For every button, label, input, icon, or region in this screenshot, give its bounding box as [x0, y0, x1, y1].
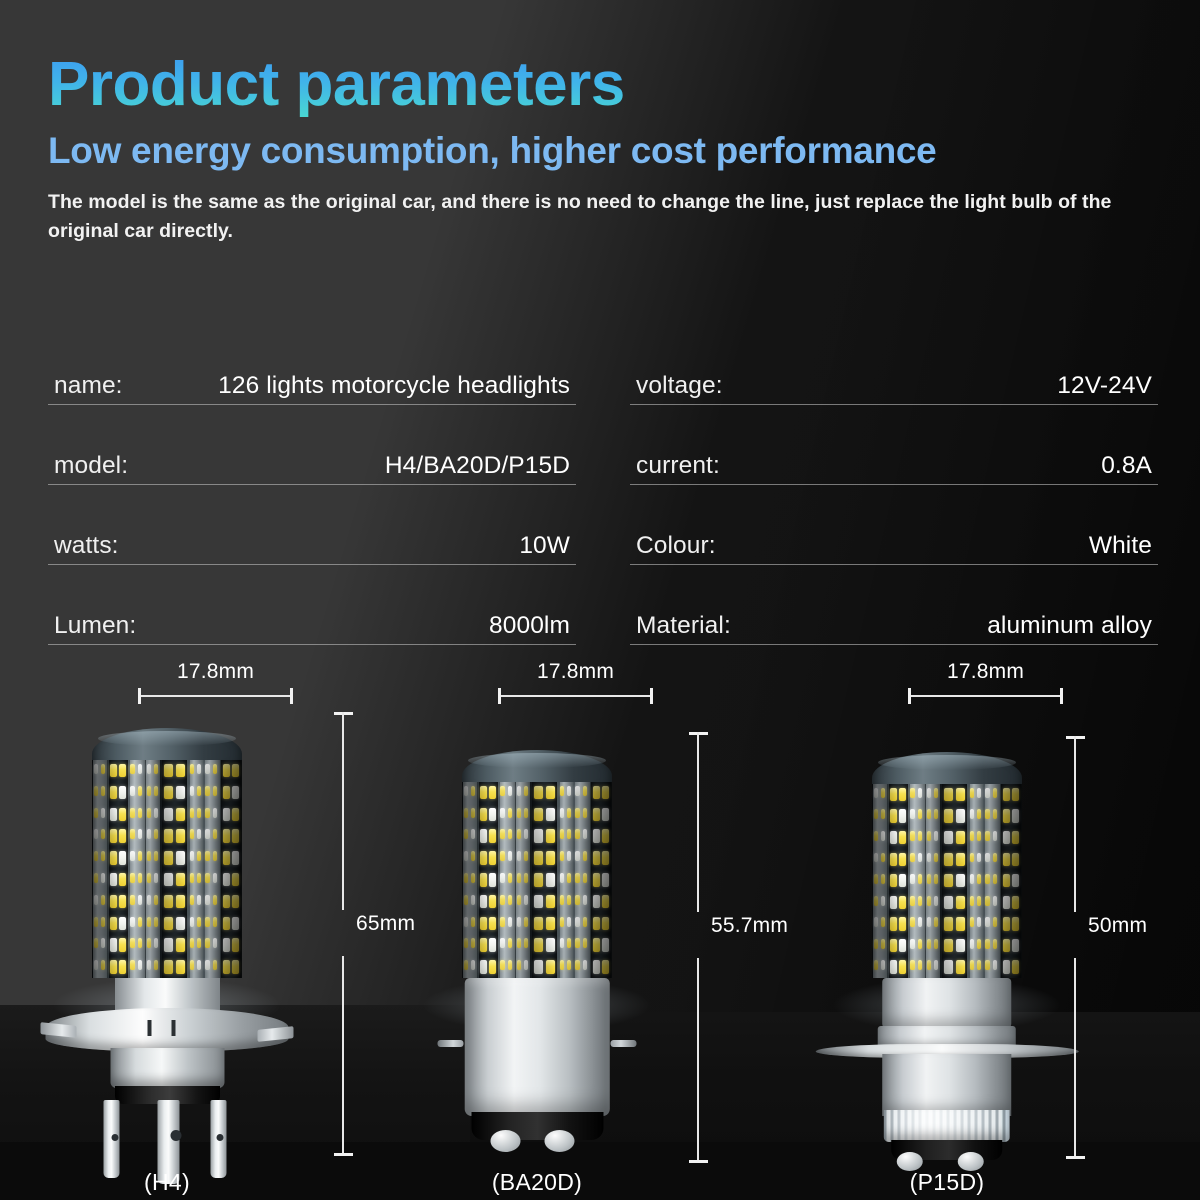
- led-chip: [1012, 809, 1019, 822]
- led-chip: [464, 917, 468, 927]
- led-chip: [223, 786, 230, 800]
- led-panel: [109, 760, 129, 978]
- spec-value: H4/BA20D/P15D: [385, 452, 570, 480]
- led-chip: [593, 917, 600, 931]
- led-panel: [575, 782, 590, 978]
- led-chip: [471, 917, 475, 927]
- led-chip: [197, 873, 201, 883]
- led-chip: [138, 960, 143, 970]
- led-chip: [154, 829, 158, 839]
- led-chip: [119, 873, 126, 887]
- led-chip: [524, 960, 528, 970]
- led-chip: [977, 831, 981, 841]
- bulb-item: 17.8mm50mm(P15D): [790, 660, 1160, 1200]
- led-chip: [970, 831, 974, 841]
- led-chip: [890, 960, 897, 973]
- led-chip: [583, 829, 588, 839]
- spec-row: Material:aluminum alloy: [630, 588, 1158, 668]
- led-chip: [500, 917, 505, 927]
- led-chip: [602, 938, 609, 952]
- page-description: The model is the same as the original ca…: [48, 188, 1123, 246]
- led-chip: [524, 895, 528, 905]
- led-chip: [508, 851, 513, 861]
- led-chip: [956, 809, 966, 822]
- spec-divider: [630, 564, 1158, 565]
- led-chip: [197, 917, 201, 927]
- led-chip: [890, 831, 897, 844]
- led-chip: [119, 808, 126, 822]
- led-chip: [223, 895, 230, 909]
- led-chip: [94, 786, 98, 796]
- led-chip: [197, 808, 201, 818]
- led-chip: [1012, 917, 1019, 930]
- width-dimension-label: 17.8mm: [498, 660, 653, 684]
- led-chip: [970, 960, 974, 970]
- led-panel: [926, 784, 940, 978]
- led-chip: [205, 764, 210, 774]
- spec-row: voltage:12V-24V: [630, 348, 1158, 428]
- led-chip: [944, 853, 954, 866]
- led-chip: [517, 786, 521, 796]
- spec-key: Lumen:: [54, 612, 136, 640]
- led-chip: [517, 873, 521, 883]
- led-chip: [138, 873, 143, 883]
- led-chip: [471, 808, 475, 818]
- led-chip: [190, 873, 194, 883]
- led-chip: [232, 808, 239, 822]
- spec-divider: [630, 484, 1158, 485]
- led-chip: [927, 960, 931, 970]
- led-chip: [119, 917, 126, 931]
- led-chip: [524, 786, 528, 796]
- led-chip: [517, 938, 521, 948]
- led-chip: [567, 808, 571, 818]
- led-chip: [524, 829, 528, 839]
- led-panel: [205, 760, 220, 978]
- led-chip: [110, 873, 117, 887]
- led-chip: [464, 851, 468, 861]
- led-chip: [993, 874, 998, 884]
- base-upper-cylinder: [883, 978, 1012, 1028]
- led-chip: [934, 960, 938, 970]
- led-chip: [560, 808, 564, 818]
- led-chip: [508, 786, 513, 796]
- led-chip: [154, 764, 158, 774]
- base-neck: [115, 978, 220, 1012]
- led-chip: [110, 829, 117, 843]
- led-chip: [147, 851, 151, 861]
- base-cylinder: [464, 978, 610, 1116]
- led-chip: [956, 788, 966, 801]
- led-chip: [119, 786, 126, 800]
- led-chip: [101, 895, 105, 905]
- led-chip: [560, 829, 564, 839]
- led-chip: [489, 829, 496, 843]
- led-chip: [154, 938, 158, 948]
- led-chip: [147, 873, 151, 883]
- led-chip: [176, 917, 186, 931]
- led-chip: [985, 831, 990, 841]
- led-chip: [1012, 853, 1019, 866]
- led-chip: [464, 808, 468, 818]
- led-chip: [489, 917, 496, 931]
- led-chip: [993, 853, 998, 863]
- height-dimension-label: 65mm: [356, 912, 415, 936]
- led-chip: [480, 829, 487, 843]
- spec-value: 126 lights motorcycle headlights: [218, 372, 570, 400]
- led-chip: [154, 851, 158, 861]
- led-chip: [464, 873, 468, 883]
- page-subtitle: Low energy consumption, higher cost perf…: [48, 131, 1158, 172]
- led-chip: [567, 873, 571, 883]
- led-chip: [471, 873, 475, 883]
- led-chip: [910, 788, 915, 798]
- spec-value: 10W: [519, 532, 570, 560]
- led-chip: [977, 960, 981, 970]
- spec-key: name:: [54, 372, 123, 400]
- base-flange: [46, 1008, 289, 1052]
- led-chip: [970, 939, 974, 949]
- spec-divider: [48, 404, 576, 405]
- led-panel: [591, 782, 611, 978]
- height-dimension: 55.7mm: [685, 660, 781, 1200]
- led-chip: [471, 938, 475, 948]
- led-chip: [223, 829, 230, 843]
- led-chip: [471, 829, 475, 839]
- led-chip: [130, 851, 135, 861]
- led-chip: [583, 786, 588, 796]
- led-chip: [546, 829, 556, 843]
- led-chip: [205, 851, 210, 861]
- led-chip: [138, 895, 143, 905]
- led-array: [92, 760, 242, 978]
- led-chip: [899, 853, 906, 866]
- led-chip: [918, 960, 923, 970]
- led-chip: [602, 873, 609, 887]
- led-chip: [517, 960, 521, 970]
- led-chip: [223, 917, 230, 931]
- led-chip: [546, 960, 556, 974]
- led-chip: [575, 917, 580, 927]
- led-chip: [517, 895, 521, 905]
- led-chip: [874, 939, 878, 949]
- base-collar: [110, 1048, 224, 1088]
- led-chip: [593, 786, 600, 800]
- led-chip: [575, 786, 580, 796]
- width-dimension: 17.8mm: [498, 688, 653, 704]
- led-chip: [934, 788, 938, 798]
- led-chip: [508, 829, 513, 839]
- led-chip: [993, 809, 998, 819]
- led-chip: [524, 938, 528, 948]
- led-chip: [94, 895, 98, 905]
- led-chip: [147, 960, 151, 970]
- led-chip: [101, 873, 105, 883]
- led-chip: [985, 874, 990, 884]
- led-chip: [970, 874, 974, 884]
- spec-row: watts:10W: [48, 508, 576, 588]
- led-chip: [524, 873, 528, 883]
- led-panel: [910, 784, 925, 978]
- spec-divider: [48, 484, 576, 485]
- led-chip: [944, 917, 954, 930]
- led-chip: [534, 873, 544, 887]
- led-chip: [602, 917, 609, 931]
- led-chip: [489, 786, 496, 800]
- led-chip: [164, 895, 174, 909]
- led-chip: [110, 938, 117, 952]
- dimension-line-upper: [1074, 736, 1076, 912]
- led-chip: [489, 938, 496, 952]
- led-chip: [899, 874, 906, 887]
- led-chip: [205, 938, 210, 948]
- led-chip: [94, 808, 98, 818]
- led-chip: [130, 829, 135, 839]
- width-dimension-label: 17.8mm: [138, 660, 293, 684]
- led-chip: [197, 829, 201, 839]
- led-chip: [489, 873, 496, 887]
- led-chip: [147, 764, 151, 774]
- contact-bump-left: [490, 1130, 520, 1152]
- led-chip: [567, 851, 571, 861]
- led-chip: [213, 917, 218, 927]
- terminal-hole-left: [111, 1134, 118, 1141]
- led-panel: [190, 760, 204, 978]
- led-chip: [985, 896, 990, 906]
- led-chip: [197, 764, 201, 774]
- led-chip: [874, 960, 878, 970]
- led-chip: [910, 874, 915, 884]
- led-chip: [489, 895, 496, 909]
- dimension-cap-bottom: [689, 1160, 708, 1163]
- led-chip: [546, 873, 556, 887]
- led-chip: [205, 960, 210, 970]
- dimension-cap-bottom: [1066, 1156, 1085, 1159]
- led-chip: [524, 917, 528, 927]
- page-title: Product parameters: [48, 52, 1158, 117]
- led-chip: [977, 917, 981, 927]
- led-chip: [517, 917, 521, 927]
- led-chip: [927, 917, 931, 927]
- led-chip: [464, 829, 468, 839]
- led-chip: [956, 917, 966, 930]
- led-chip: [918, 939, 923, 949]
- height-dimension-label: 50mm: [1088, 914, 1147, 938]
- led-chip: [232, 873, 239, 887]
- led-chip: [164, 829, 174, 843]
- led-chip: [575, 895, 580, 905]
- spec-value: 8000lm: [489, 612, 570, 640]
- led-chip: [1012, 831, 1019, 844]
- led-chip: [508, 808, 513, 818]
- led-panel: [970, 784, 984, 978]
- led-chip: [575, 829, 580, 839]
- led-chip: [881, 939, 885, 949]
- led-chip: [130, 917, 135, 927]
- dimension-line: [138, 695, 293, 697]
- led-chip: [119, 764, 126, 778]
- led-chip: [910, 896, 915, 906]
- bulb-item: 17.8mm65mm(H4): [50, 660, 420, 1200]
- led-chip: [197, 786, 201, 796]
- spec-value: 12V-24V: [1057, 372, 1152, 400]
- led-chip: [213, 938, 218, 948]
- spec-row: name:126 lights motorcycle headlights: [48, 348, 576, 428]
- dimension-line: [498, 695, 653, 697]
- led-chip: [560, 873, 564, 883]
- led-chip: [500, 960, 505, 970]
- led-chip: [138, 808, 143, 818]
- led-chip: [546, 851, 556, 865]
- led-chip: [119, 895, 126, 909]
- led-chip: [94, 873, 98, 883]
- led-chip: [899, 831, 906, 844]
- led-chip: [910, 853, 915, 863]
- led-chip: [1003, 831, 1010, 844]
- led-chip: [881, 896, 885, 906]
- led-chip: [944, 939, 954, 952]
- led-chip: [899, 896, 906, 909]
- led-chip: [138, 938, 143, 948]
- led-chip: [223, 873, 230, 887]
- led-chip: [471, 960, 475, 970]
- led-chip: [890, 853, 897, 866]
- led-chip: [190, 829, 194, 839]
- dimension-cap-right: [650, 688, 653, 704]
- led-chip: [956, 853, 966, 866]
- terminal-hole-center: [171, 1130, 182, 1141]
- led-chip: [119, 960, 126, 974]
- led-chip: [130, 808, 135, 818]
- led-chip: [110, 764, 117, 778]
- led-chip: [593, 851, 600, 865]
- led-chip: [583, 895, 588, 905]
- led-chip: [176, 829, 186, 843]
- height-dimension: 65mm: [330, 660, 426, 1200]
- led-chip: [944, 809, 954, 822]
- led-chip: [176, 938, 186, 952]
- led-chip: [546, 917, 556, 931]
- dimension-line-lower: [1074, 958, 1076, 1156]
- led-chip: [480, 808, 487, 822]
- led-chip: [602, 960, 609, 974]
- spec-table: name:126 lights motorcycle headlightsvol…: [48, 348, 1158, 668]
- led-chip: [480, 895, 487, 909]
- led-chip: [546, 786, 556, 800]
- led-chip: [147, 786, 151, 796]
- led-chip: [985, 960, 990, 970]
- led-chip: [956, 831, 966, 844]
- led-chip: [101, 938, 105, 948]
- led-chip: [213, 895, 218, 905]
- led-chip: [977, 788, 981, 798]
- led-chip: [534, 895, 544, 909]
- width-dimension: 17.8mm: [908, 688, 1063, 704]
- spec-key: model:: [54, 452, 128, 480]
- led-chip: [970, 788, 974, 798]
- dimension-cap-right: [290, 688, 293, 704]
- led-chip: [176, 764, 186, 778]
- led-chip: [956, 960, 966, 973]
- led-chip: [977, 874, 981, 884]
- led-panel: [1001, 784, 1021, 978]
- led-chip: [593, 873, 600, 887]
- led-chip: [464, 786, 468, 796]
- led-chip: [213, 764, 218, 774]
- spec-key: Material:: [636, 612, 731, 640]
- led-chip: [176, 808, 186, 822]
- led-panel: [532, 782, 558, 978]
- led-chip: [500, 938, 505, 948]
- spec-value: aluminum alloy: [987, 612, 1152, 640]
- led-chip: [993, 939, 998, 949]
- led-chip: [480, 873, 487, 887]
- led-chip: [927, 831, 931, 841]
- led-chip: [205, 917, 210, 927]
- bayonet-pin-left: [438, 1040, 464, 1047]
- led-chip: [583, 873, 588, 883]
- spec-row: model:H4/BA20D/P15D: [48, 428, 576, 508]
- led-chip: [101, 960, 105, 970]
- led-chip: [583, 808, 588, 818]
- led-chip: [934, 917, 938, 927]
- led-chip: [232, 851, 239, 865]
- bulb-item: 17.8mm55.7mm(BA20D): [420, 660, 790, 1200]
- led-chip: [1012, 874, 1019, 887]
- led-chip: [223, 960, 230, 974]
- led-chip: [534, 938, 544, 952]
- led-chip: [138, 786, 143, 796]
- led-chip: [223, 808, 230, 822]
- led-chip: [874, 874, 878, 884]
- bulb-base-label: (H4): [12, 1169, 322, 1196]
- led-chip: [197, 895, 201, 905]
- led-chip: [147, 895, 151, 905]
- led-chip: [489, 851, 496, 865]
- led-chip: [944, 874, 954, 887]
- led-chip: [575, 873, 580, 883]
- bulb-base-label: (P15D): [792, 1169, 1102, 1196]
- led-chip: [546, 895, 556, 909]
- led-chip: [602, 895, 609, 909]
- led-chip: [881, 874, 885, 884]
- led-chip: [130, 786, 135, 796]
- led-chip: [934, 809, 938, 819]
- led-chip: [223, 851, 230, 865]
- led-chip: [910, 809, 915, 819]
- led-chip: [164, 786, 174, 800]
- led-chip: [575, 960, 580, 970]
- led-chip: [881, 853, 885, 863]
- led-chip: [910, 960, 915, 970]
- led-chip: [119, 938, 126, 952]
- spec-divider: [630, 404, 1158, 405]
- led-panel: [162, 760, 188, 978]
- led-chip: [881, 960, 885, 970]
- led-chip: [602, 808, 609, 822]
- led-chip: [154, 917, 158, 927]
- led-chip: [944, 788, 954, 801]
- led-panel: [500, 782, 515, 978]
- led-chip: [575, 851, 580, 861]
- led-chip: [944, 960, 954, 973]
- led-chip: [480, 938, 487, 952]
- led-chip: [508, 873, 513, 883]
- led-chip: [874, 896, 878, 906]
- led-chip: [881, 788, 885, 798]
- led-chip: [1012, 896, 1019, 909]
- led-chip: [1003, 960, 1010, 973]
